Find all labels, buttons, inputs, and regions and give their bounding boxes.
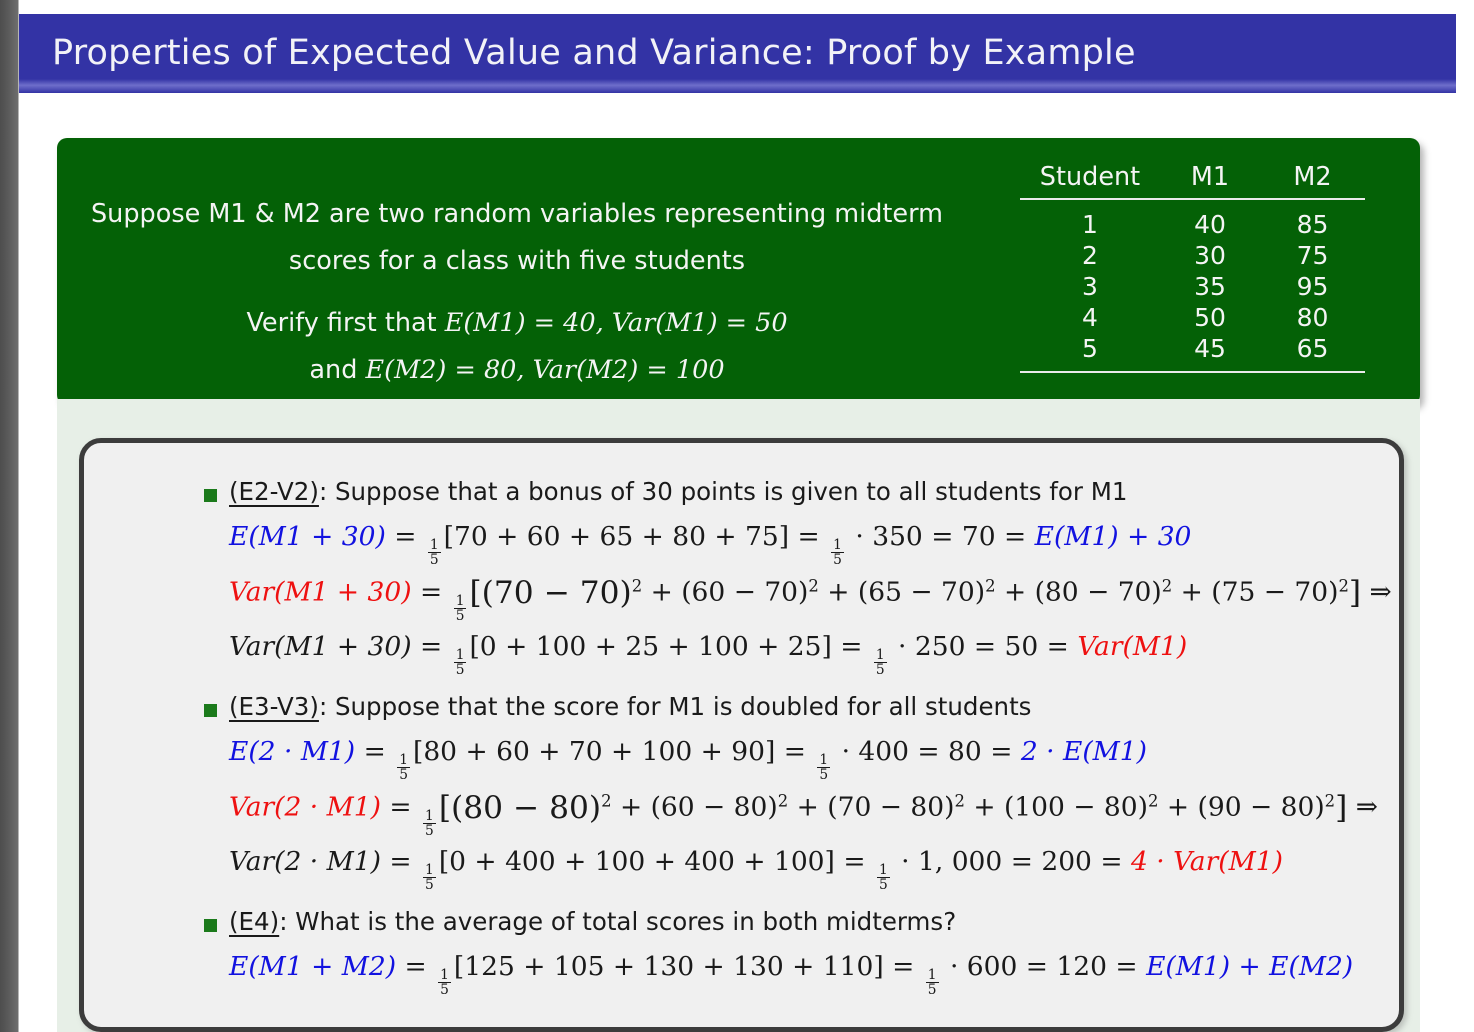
fraction-one-fifth: 15 xyxy=(428,538,441,567)
math-e2-line2-lhs: Var(M1 + 30) xyxy=(229,577,412,608)
premise-block: Suppose M1 & M2 are two random variables… xyxy=(57,138,1420,405)
table-header-student: Student xyxy=(1020,158,1160,199)
math-e2-line2-eq1: = xyxy=(412,577,451,608)
fraction-one-fifth: 15 xyxy=(423,809,436,838)
math-e3-line2-lhs: Var(2 · M1) xyxy=(229,792,381,823)
bullet-group-e3v3: (E3-V3): Suppose that the score for M1 i… xyxy=(84,694,1399,903)
exponent: 2 xyxy=(1148,791,1158,810)
bullet-statement-e4: : What is the average of total scores in… xyxy=(279,907,956,936)
math-e2-line3: Var(M1 + 30) = 15[0 + 100 + 25 + 100 + 2… xyxy=(84,633,1399,688)
cell-m2: 65 xyxy=(1260,333,1365,372)
bullet-head-e2v2: (E2-V2): Suppose that a bonus of 30 poin… xyxy=(84,479,1399,523)
math-e2-line3-dotval: · 250 = 50 = xyxy=(890,631,1078,662)
implies-arrow-icon: ⇒ xyxy=(1361,577,1392,608)
math-term: + (100 − 80) xyxy=(965,792,1148,823)
premise-line-4-e: E xyxy=(366,355,385,385)
math-e2-line1-eq1: = xyxy=(386,521,425,552)
table-header-m1: M1 xyxy=(1160,158,1260,199)
exponent: 2 xyxy=(1162,576,1172,595)
math-e2-line1: E(M1 + 30) = 15[70 + 60 + 65 + 80 + 75] … xyxy=(84,523,1399,578)
cell-m2: 95 xyxy=(1260,271,1365,302)
math-e3-line1-eq2: = xyxy=(775,736,814,767)
cell-m1: 45 xyxy=(1160,333,1260,372)
math-e3-line3-lhs: Var(2 · M1) xyxy=(229,846,381,877)
bullet-head-e3v3: (E3-V3): Suppose that the score for M1 i… xyxy=(84,694,1399,738)
cell-m1: 50 xyxy=(1160,302,1260,333)
slide-frame: Properties of Expected Value and Varianc… xyxy=(0,0,1474,1032)
fraction-one-fifth: 15 xyxy=(877,863,890,892)
math-term: + (90 − 80) xyxy=(1158,792,1324,823)
math-e3-line2: Var(2 · M1) = 15[(80 − 80)2 + (60 − 80)2… xyxy=(84,793,1399,848)
math-e4-line1-bracket: [125 + 105 + 130 + 130 + 110] xyxy=(454,951,884,982)
premise-line-3-var-arg: (M1) = 50 xyxy=(655,308,787,338)
premise-line-2: scores for a class with five students xyxy=(67,245,967,278)
cell-m1: 30 xyxy=(1160,240,1260,271)
math-term: + (60 − 80) xyxy=(612,792,778,823)
math-e3-line1-eq1: = xyxy=(355,736,394,767)
fraction-one-fifth: 15 xyxy=(454,594,467,623)
bullet-head-e4: (E4): What is the average of total score… xyxy=(84,909,1399,953)
fraction-one-fifth: 15 xyxy=(831,538,844,567)
content-box: (E2-V2): Suppose that a bonus of 30 poin… xyxy=(79,438,1404,1032)
cell-m2: 75 xyxy=(1260,240,1365,271)
premise-line-4-var: Var xyxy=(533,355,576,385)
premise-line-4-var-arg: (M2) = 100 xyxy=(576,355,724,385)
cell-m2: 80 xyxy=(1260,302,1365,333)
fraction-one-fifth: 15 xyxy=(926,968,939,997)
math-e4-line1-lhs: E(M1 + M2) xyxy=(229,951,396,982)
math-e4-line1-eq1: = xyxy=(396,951,435,982)
bullet-group-e2v2: (E2-V2): Suppose that a bonus of 30 poin… xyxy=(84,479,1399,688)
premise-line-3-e-arg: (M1) = 40, xyxy=(463,308,611,338)
table-row: 5 45 65 xyxy=(1020,333,1365,372)
title-bar-fade xyxy=(19,79,1456,93)
cell-student: 1 xyxy=(1020,199,1160,240)
math-term: + (65 − 70) xyxy=(819,577,985,608)
bullet-statement-e2v2: : Suppose that a bonus of 30 points is g… xyxy=(319,477,1128,506)
exponent: 2 xyxy=(1325,791,1335,810)
fraction-one-fifth: 15 xyxy=(423,863,436,892)
bullet-square-icon xyxy=(204,919,217,932)
page-title: Properties of Expected Value and Varianc… xyxy=(52,33,1136,73)
fraction-one-fifth: 15 xyxy=(397,753,410,782)
fraction-one-fifth: 15 xyxy=(874,648,887,677)
premise-line-3-e: E xyxy=(445,308,464,338)
math-e2-line3-bracket: [0 + 100 + 25 + 100 + 25] xyxy=(469,631,831,662)
math-e3-line3-bracket: [0 + 400 + 100 + 400 + 100] xyxy=(439,846,835,877)
math-e2-line1-bracket: [70 + 60 + 65 + 80 + 75] xyxy=(444,521,789,552)
math-e2-line1-dotval: · 350 = 70 = xyxy=(847,521,1035,552)
math-e3-line1-rhs: 2 · E(M1) xyxy=(1021,736,1147,767)
exponent: 2 xyxy=(601,791,611,810)
cell-m1: 40 xyxy=(1160,199,1260,240)
math-e3-line2-open: [(80 − 80) xyxy=(439,790,601,826)
table-row: 3 35 95 xyxy=(1020,271,1365,302)
cell-m1: 35 xyxy=(1160,271,1260,302)
table-row: 4 50 80 xyxy=(1020,302,1365,333)
math-e4-line1-eq2: = xyxy=(884,951,923,982)
bullet-tag-e2v2: (E2-V2) xyxy=(229,477,319,506)
premise-text: Suppose M1 & M2 are two random variables… xyxy=(67,198,967,401)
math-e3-line3-rhs: 4 · Var(M1) xyxy=(1131,846,1283,877)
exponent: 2 xyxy=(808,576,818,595)
exponent: 2 xyxy=(632,576,642,595)
cell-student: 3 xyxy=(1020,271,1160,302)
bullet-tag-e4: (E4) xyxy=(229,907,279,936)
fraction-one-fifth: 15 xyxy=(817,753,830,782)
math-e2-line1-lhs: E(M1 + 30) xyxy=(229,521,386,552)
implies-arrow-icon: ⇒ xyxy=(1347,792,1378,823)
cell-student: 2 xyxy=(1020,240,1160,271)
slide-title-bar: Properties of Expected Value and Varianc… xyxy=(19,14,1456,93)
math-e2-line3-lhs: Var(M1 + 30) xyxy=(229,631,412,662)
premise-line-1: Suppose M1 & M2 are two random variables… xyxy=(67,198,967,231)
math-term: + (75 − 70) xyxy=(1172,577,1338,608)
bullet-tag-e3v3: (E3-V3) xyxy=(229,692,319,721)
math-e3-line1-bracket: [80 + 60 + 70 + 100 + 90] xyxy=(413,736,775,767)
slide-canvas: Properties of Expected Value and Varianc… xyxy=(19,14,1456,1032)
math-term: + (60 − 70) xyxy=(642,577,808,608)
math-e2-line2-open: [(70 − 70) xyxy=(469,575,631,611)
premise-line-3: Verify first that E(M1) = 40, Var(M1) = … xyxy=(67,307,967,340)
premise-line-4-e-arg: (M2) = 80, xyxy=(384,355,532,385)
math-e4-line1-dotval: · 600 = 120 = xyxy=(942,951,1147,982)
table-row: 1 40 85 xyxy=(1020,199,1365,240)
math-e3-line1-dotval: · 400 = 80 = xyxy=(833,736,1021,767)
math-e2-line3-eq2: = xyxy=(832,631,871,662)
math-e3-line3: Var(2 · M1) = 15[0 + 400 + 100 + 400 + 1… xyxy=(84,848,1399,903)
math-term: + (80 − 70) xyxy=(996,577,1162,608)
premise-line-3-prefix: Verify first that xyxy=(246,308,444,338)
math-term: + (70 − 80) xyxy=(788,792,954,823)
math-e2-line3-rhs: Var(M1) xyxy=(1077,631,1187,662)
premise-line-4-prefix: and xyxy=(309,355,365,385)
cell-student: 5 xyxy=(1020,333,1160,372)
bullet-list: (E2-V2): Suppose that a bonus of 30 poin… xyxy=(84,479,1399,1014)
table-row: 2 30 75 xyxy=(1020,240,1365,271)
math-e4-line1: E(M1 + M2) = 15[125 + 105 + 130 + 130 + … xyxy=(84,953,1399,1008)
bullet-square-icon xyxy=(204,704,217,717)
bullet-square-icon xyxy=(204,489,217,502)
table-header-row: Student M1 M2 xyxy=(1020,158,1365,199)
table-header-m2: M2 xyxy=(1260,158,1365,199)
premise-line-3-var: Var xyxy=(612,308,655,338)
cell-student: 4 xyxy=(1020,302,1160,333)
exponent: 2 xyxy=(778,791,788,810)
score-table: Student M1 M2 1 40 85 2 30 75 xyxy=(1020,158,1365,373)
bullet-statement-e3v3: : Suppose that the score for M1 is doubl… xyxy=(319,692,1032,721)
math-close-bracket: ] xyxy=(1349,575,1361,611)
exponent: 2 xyxy=(1338,576,1348,595)
exponent: 2 xyxy=(954,791,964,810)
cell-m2: 85 xyxy=(1260,199,1365,240)
math-e2-line2: Var(M1 + 30) = 15[(70 − 70)2 + (60 − 70)… xyxy=(84,578,1399,633)
premise-line-4: and E(M2) = 80, Var(M2) = 100 xyxy=(67,354,967,387)
math-e3-line3-eq2: = xyxy=(835,846,874,877)
math-e2-line1-rhs: E(M1) + 30 xyxy=(1035,521,1192,552)
exponent: 2 xyxy=(985,576,995,595)
math-e3-line2-eq1: = xyxy=(381,792,420,823)
math-e4-line1-rhs: E(M1) + E(M2) xyxy=(1146,951,1353,982)
math-e3-line3-dotval: · 1, 000 = 200 = xyxy=(893,846,1131,877)
math-close-bracket: ] xyxy=(1335,790,1347,826)
bullet-group-e4: (E4): What is the average of total score… xyxy=(84,909,1399,1008)
math-e3-line1: E(2 · M1) = 15[80 + 60 + 70 + 100 + 90] … xyxy=(84,738,1399,793)
fraction-one-fifth: 15 xyxy=(454,648,467,677)
math-e3-line3-eq1: = xyxy=(381,846,420,877)
fraction-one-fifth: 15 xyxy=(438,968,451,997)
math-e3-line1-lhs: E(2 · M1) xyxy=(229,736,355,767)
math-e2-line3-eq1: = xyxy=(412,631,451,662)
math-e2-line1-eq2: = xyxy=(789,521,828,552)
